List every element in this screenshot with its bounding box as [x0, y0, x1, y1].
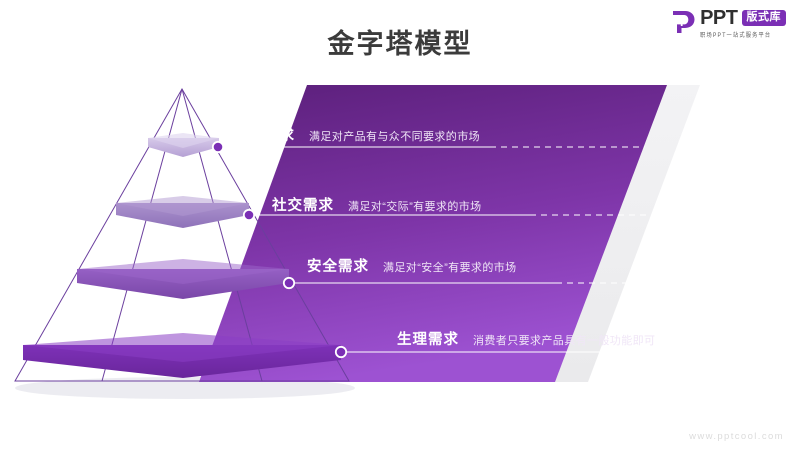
pyramid-row-2-desc: 满足对“交际”有要求的市场 [348, 198, 482, 214]
pyramid-row-1-desc: 满足对产品有与众不同要求的市场 [309, 128, 480, 144]
pyramid-svg [0, 0, 800, 450]
connector-marker-3[interactable] [284, 278, 294, 288]
pyramid-row-1[interactable]: 尊重需求 满足对产品有与众不同要求的市场 [233, 124, 480, 145]
pyramid-row-3[interactable]: 安全需求 满足对“安全”有要求的市场 [307, 255, 517, 276]
pyramid-diagram [0, 0, 800, 450]
pyramid-row-2-title: 社交需求 [272, 194, 334, 215]
connector-marker-4[interactable] [336, 347, 346, 357]
pyramid-row-4[interactable]: 生理需求 消费者只要求产品具有一般功能即可 [397, 328, 655, 349]
pyramid-row-2[interactable]: 社交需求 满足对“交际”有要求的市场 [272, 194, 482, 215]
pyramid-row-1-title: 尊重需求 [233, 124, 295, 145]
pyramid-row-4-title: 生理需求 [397, 328, 459, 349]
pyramid-row-3-title: 安全需求 [307, 255, 369, 276]
slide-canvas: 金字塔模型 PPT 版式库 职场PPT一站式服务平台 [0, 0, 800, 450]
connector-marker-2[interactable] [244, 210, 254, 220]
pyramid-row-3-desc: 满足对“安全”有要求的市场 [383, 259, 517, 275]
connector-marker-1[interactable] [213, 142, 223, 152]
pyramid-row-4-desc: 消费者只要求产品具有一般功能即可 [473, 332, 655, 348]
watermark: www.pptcool.com [689, 431, 784, 442]
